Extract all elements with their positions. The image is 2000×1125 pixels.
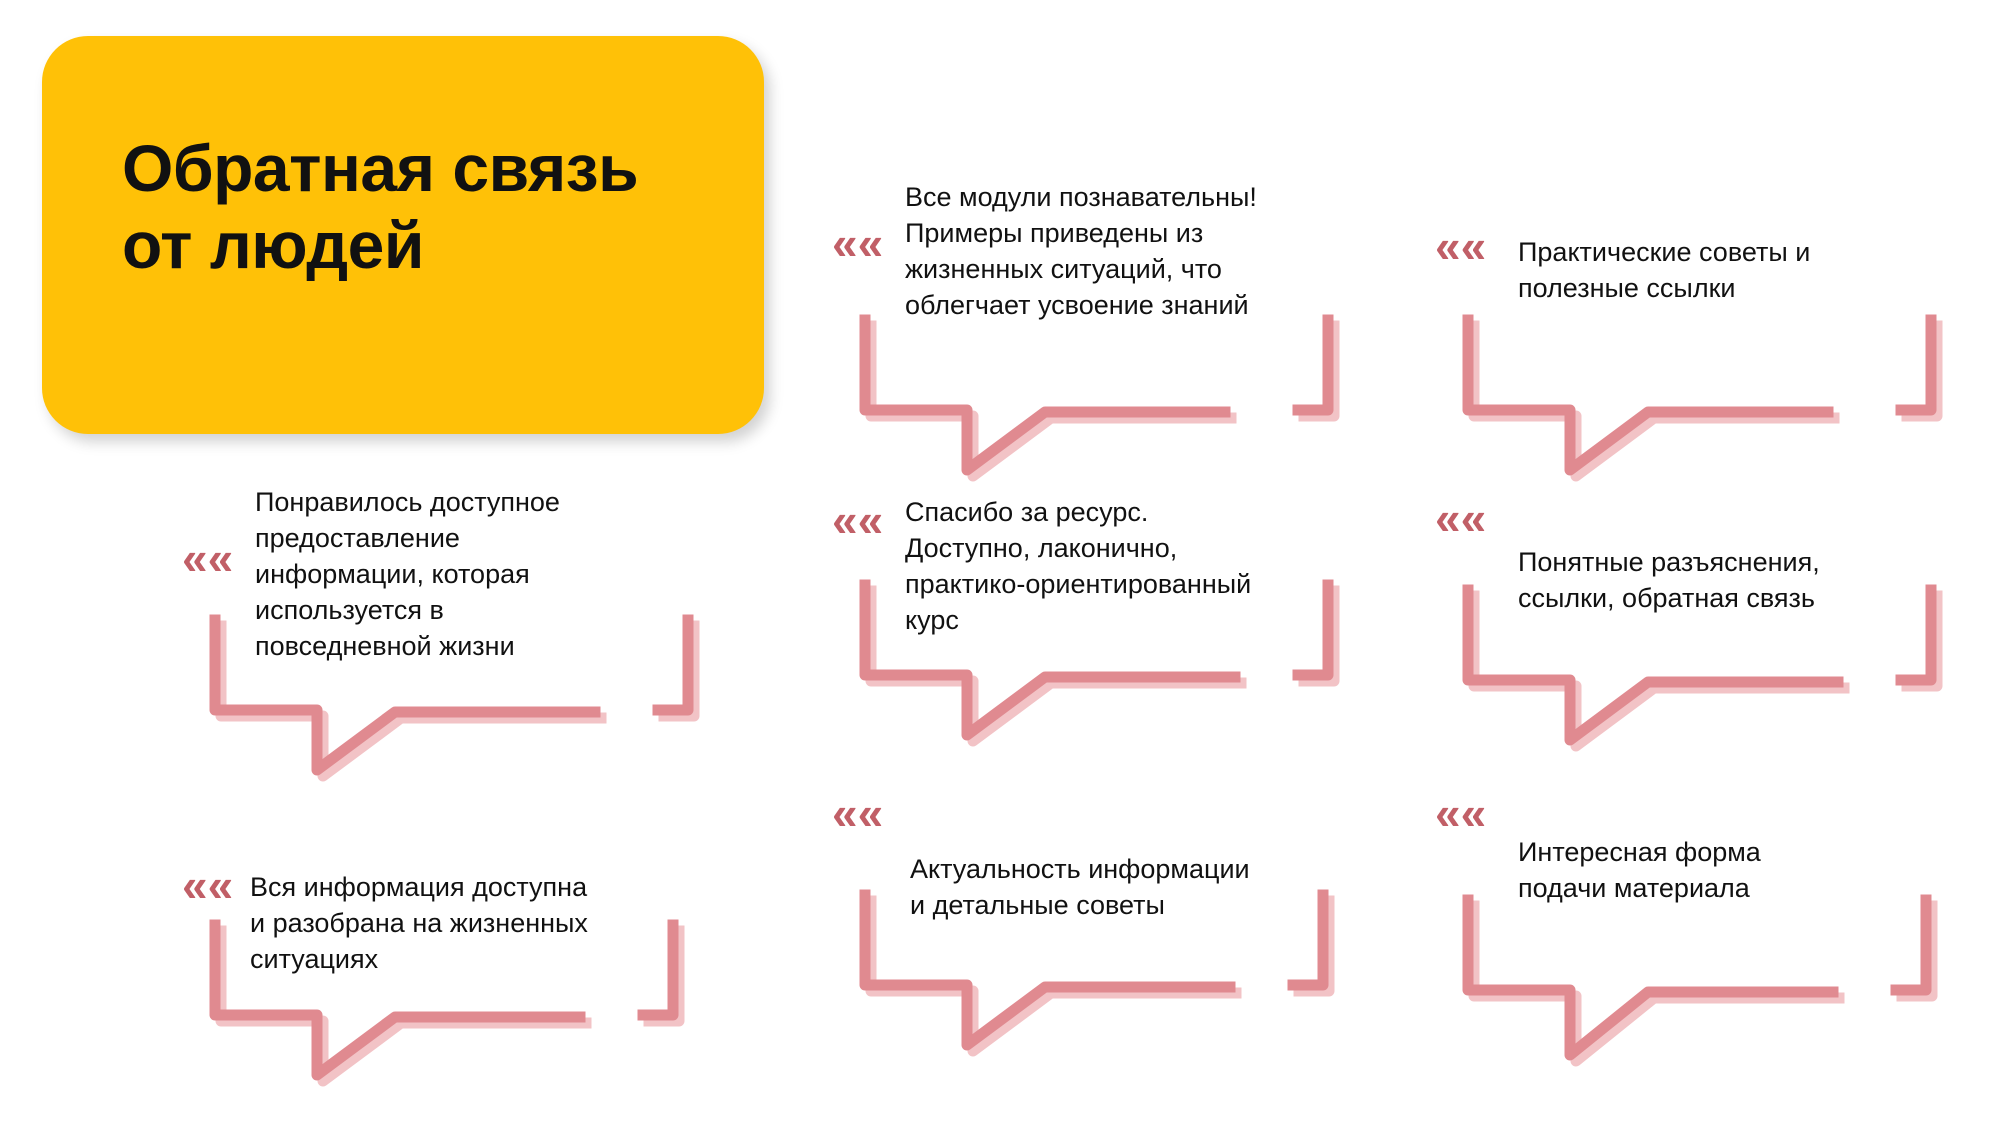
speech-bubble-corner-cap xyxy=(633,905,723,1035)
speech-bubble-frame xyxy=(195,860,695,1110)
speech-bubble-corner-cap xyxy=(1891,300,1981,430)
title-card: Обратная связь от людей xyxy=(42,36,764,434)
slide-canvas: Обратная связь от людей «« Все модули по… xyxy=(0,0,2000,1125)
speech-bubble-corner-cap xyxy=(1283,875,1373,1005)
speech-bubble-corner-cap xyxy=(1288,565,1378,695)
page-title: Обратная связь от людей xyxy=(122,130,722,284)
speech-bubble-frame xyxy=(195,485,695,785)
speech-bubble-corner-cap xyxy=(648,600,738,730)
speech-bubble-corner-cap xyxy=(1288,300,1378,430)
speech-bubble-frame xyxy=(845,790,1345,1070)
speech-bubble-corner-cap xyxy=(1891,570,1981,700)
speech-bubble-frame xyxy=(1448,495,1948,785)
speech-bubble-frame xyxy=(1448,790,1948,1080)
speech-bubble-frame xyxy=(845,180,1345,450)
speech-bubble-frame xyxy=(1448,225,1948,495)
speech-bubble-corner-cap xyxy=(1886,880,1976,1010)
speech-bubble-frame xyxy=(845,495,1345,785)
